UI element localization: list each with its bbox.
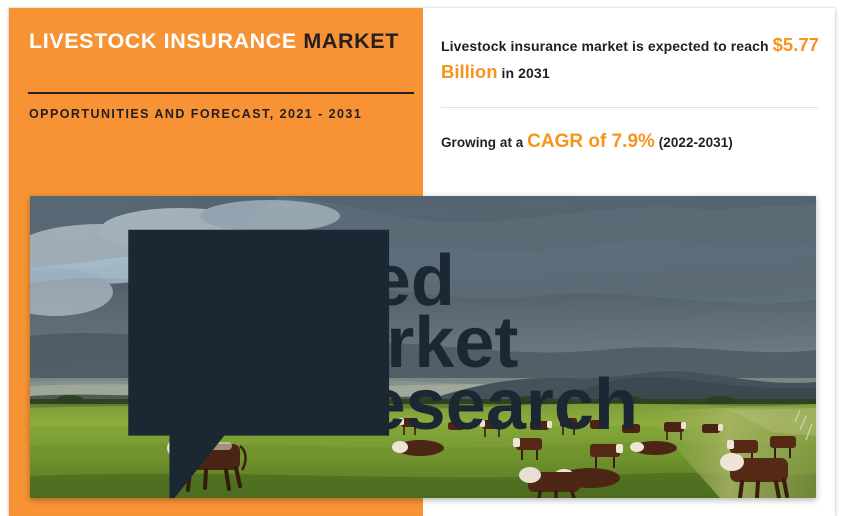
cagr-period: (2022-2031)	[659, 135, 733, 150]
cagr-statement: Growing at a CAGR of 7.9% (2022-2031)	[441, 129, 819, 156]
page-title-line2: MARKET	[303, 29, 399, 53]
cagr-value: CAGR of 7.9%	[527, 131, 655, 152]
page-title: LIVESTOCK INSURANCE MARKET	[29, 28, 409, 54]
page-title-line1: LIVESTOCK INSURANCE	[29, 29, 297, 53]
page-subtitle: OPPORTUNITIES AND FORECAST, 2021 - 2031	[29, 105, 419, 124]
stats-divider	[441, 107, 818, 108]
pasture-storm-illustration	[30, 196, 816, 498]
market-report-card: LIVESTOCK INSURANCE MARKET OPPORTUNITIES…	[9, 8, 835, 516]
stats-column: Livestock insurance market is expected t…	[441, 32, 819, 155]
market-size-prefix: Livestock insurance market is expected t…	[441, 38, 769, 54]
market-size-suffix: in 2031	[502, 65, 550, 81]
hero-photo: Allied Market Research	[30, 196, 816, 498]
market-size-statement: Livestock insurance market is expected t…	[441, 32, 819, 86]
title-divider	[28, 92, 414, 94]
screenshot-root: LIVESTOCK INSURANCE MARKET OPPORTUNITIES…	[0, 0, 847, 516]
cagr-prefix: Growing at a	[441, 135, 523, 150]
